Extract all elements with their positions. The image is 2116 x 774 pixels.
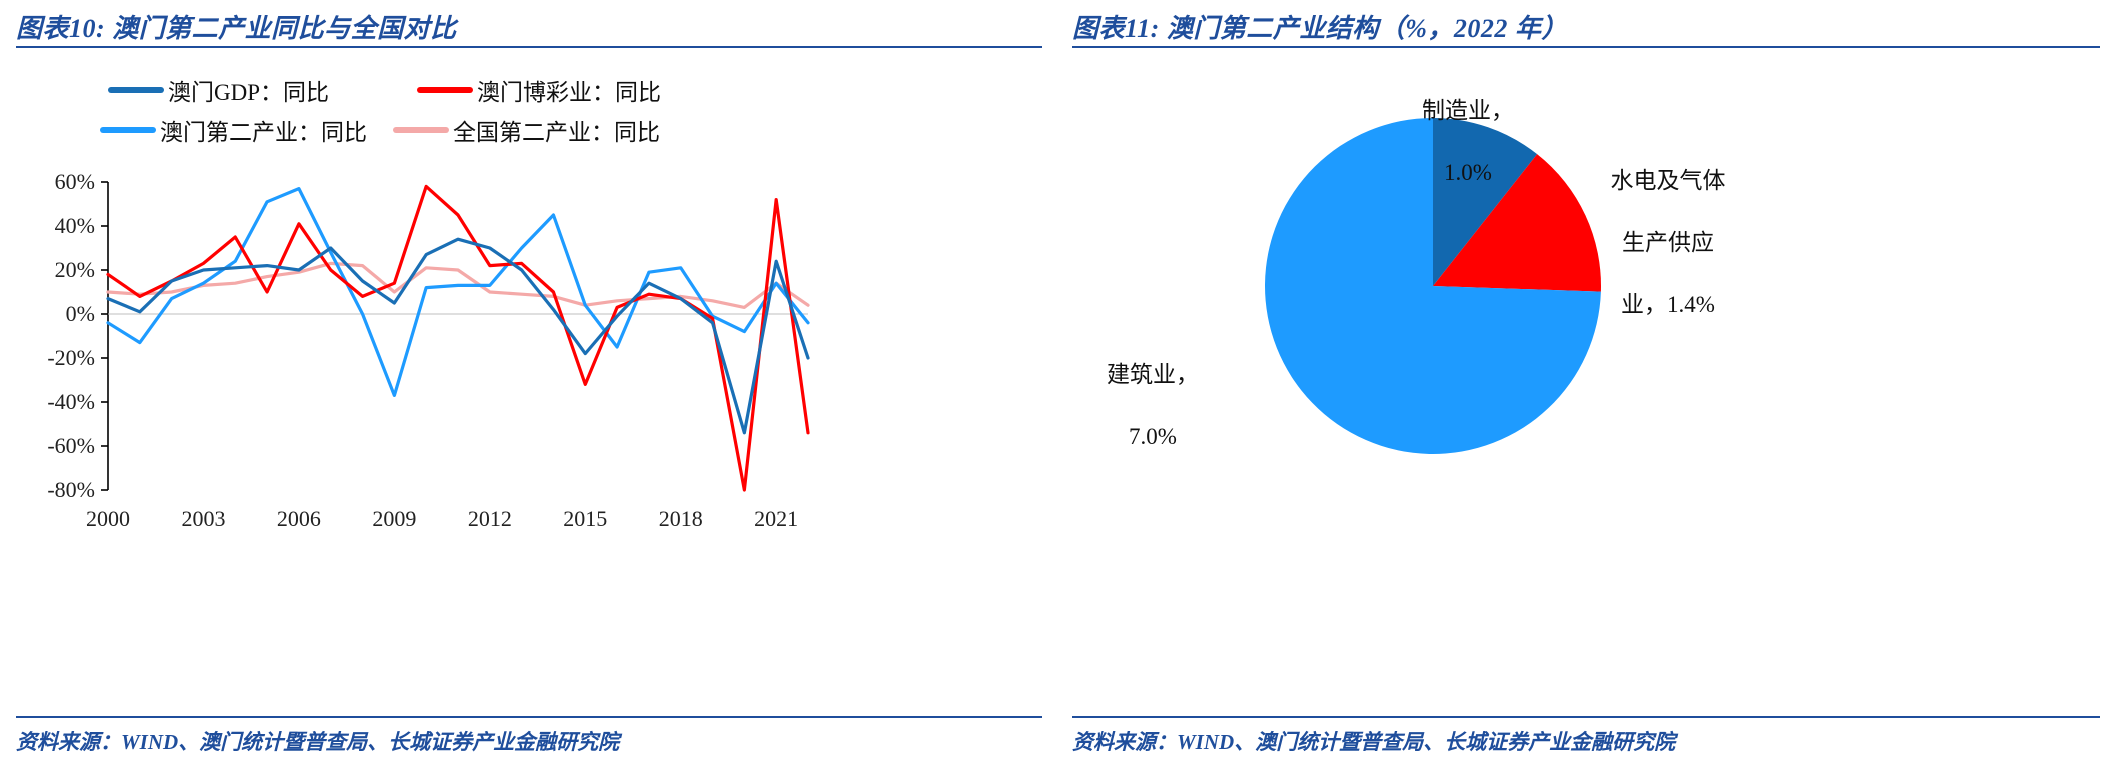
x-axis-tick-label: 2015 — [563, 506, 607, 531]
x-axis-tick-label: 2009 — [372, 506, 416, 531]
pie-label-manufacturing: 制造业， 1.0% — [1358, 64, 1578, 219]
legend-row-1: 澳门GDP：同比 澳门博彩业：同比 — [100, 70, 760, 110]
legend-item-china-secondary[interactable]: 全国第二产业：同比 — [393, 113, 660, 147]
line-series-0 — [108, 239, 808, 433]
x-axis-tick-label: 2018 — [659, 506, 703, 531]
right-chart-panel: 图表11: 澳门第二产业结构（%，2022 年） 制造业， 1.0% 水电及气体… — [1058, 0, 2116, 774]
legend-swatch-macau-gdp — [108, 87, 164, 93]
y-axis-tick-label: 40% — [55, 213, 95, 238]
line-chart: 60%40%20%0%-20%-40%-60%-80%2000200320062… — [16, 168, 816, 548]
y-axis-tick-label: -60% — [47, 433, 95, 458]
y-axis-tick-label: -40% — [47, 389, 95, 414]
x-axis-tick-label: 2012 — [468, 506, 512, 531]
y-axis-tick-label: -20% — [47, 345, 95, 370]
pie-label-construction-line2: 7.0% — [1043, 421, 1263, 452]
pie-label-construction: 建筑业， 7.0% — [1043, 328, 1263, 483]
line-chart-svg: 60%40%20%0%-20%-40%-60%-80%2000200320062… — [16, 168, 816, 548]
x-axis-tick-label: 2003 — [181, 506, 225, 531]
pie-label-manufacturing-line2: 1.0% — [1358, 157, 1578, 188]
y-axis-tick-label: 60% — [55, 169, 95, 194]
legend-item-macau-gaming[interactable]: 澳门博彩业：同比 — [417, 73, 661, 107]
right-source-note: 资料来源：WIND、澳门统计暨普查局、长城证券产业金融研究院 — [1072, 726, 1675, 756]
left-panel-title: 图表10: 澳门第二产业同比与全国对比 — [16, 8, 1042, 45]
pie-label-utilities-line3: 业，1.4% — [1558, 289, 1778, 320]
pie-label-construction-line1: 建筑业， — [1043, 359, 1263, 390]
legend-label-macau-gdp: 澳门GDP：同比 — [168, 73, 329, 107]
pie-chart: 制造业， 1.0% 水电及气体 生产供应 业，1.4% 建筑业， 7.0% — [1058, 56, 2116, 656]
x-axis-tick-label: 2021 — [754, 506, 798, 531]
left-source-note: 资料来源：WIND、澳门统计暨普查局、长城证券产业金融研究院 — [16, 726, 619, 756]
x-axis-tick-label: 2000 — [86, 506, 130, 531]
right-title-divider — [1072, 46, 2100, 48]
x-axis-tick-label: 2006 — [277, 506, 321, 531]
pie-label-utilities: 水电及气体 生产供应 业，1.4% — [1558, 134, 1778, 351]
line-series-2 — [108, 189, 808, 396]
pie-label-utilities-line2: 生产供应 — [1558, 227, 1778, 258]
right-source-divider — [1072, 716, 2100, 718]
left-title-divider — [16, 46, 1042, 48]
left-source-divider — [16, 716, 1042, 718]
legend-swatch-macau-secondary — [100, 127, 156, 133]
legend-label-china-secondary: 全国第二产业：同比 — [453, 113, 660, 147]
line-series-1 — [108, 186, 808, 490]
pie-label-manufacturing-line1: 制造业， — [1358, 95, 1578, 126]
left-chart-panel: 图表10: 澳门第二产业同比与全国对比 澳门GDP：同比 澳门博彩业：同比 澳门… — [0, 0, 1058, 774]
legend-swatch-china-secondary — [393, 127, 449, 133]
legend-label-macau-secondary: 澳门第二产业：同比 — [160, 113, 367, 147]
y-axis-tick-label: 0% — [66, 301, 95, 326]
line-chart-legend: 澳门GDP：同比 澳门博彩业：同比 澳门第二产业：同比 全国第二产业：同比 — [100, 70, 760, 150]
legend-item-macau-secondary[interactable]: 澳门第二产业：同比 — [100, 113, 367, 147]
legend-item-macau-gdp[interactable]: 澳门GDP：同比 — [108, 73, 329, 107]
legend-swatch-macau-gaming — [417, 87, 473, 93]
y-axis-tick-label: 20% — [55, 257, 95, 282]
y-axis-tick-label: -80% — [47, 477, 95, 502]
legend-label-macau-gaming: 澳门博彩业：同比 — [477, 73, 661, 107]
figure-pair-page: 图表10: 澳门第二产业同比与全国对比 澳门GDP：同比 澳门博彩业：同比 澳门… — [0, 0, 2116, 774]
legend-row-2: 澳门第二产业：同比 全国第二产业：同比 — [100, 110, 760, 150]
right-panel-title: 图表11: 澳门第二产业结构（%，2022 年） — [1058, 8, 2100, 45]
pie-label-utilities-line1: 水电及气体 — [1558, 165, 1778, 196]
